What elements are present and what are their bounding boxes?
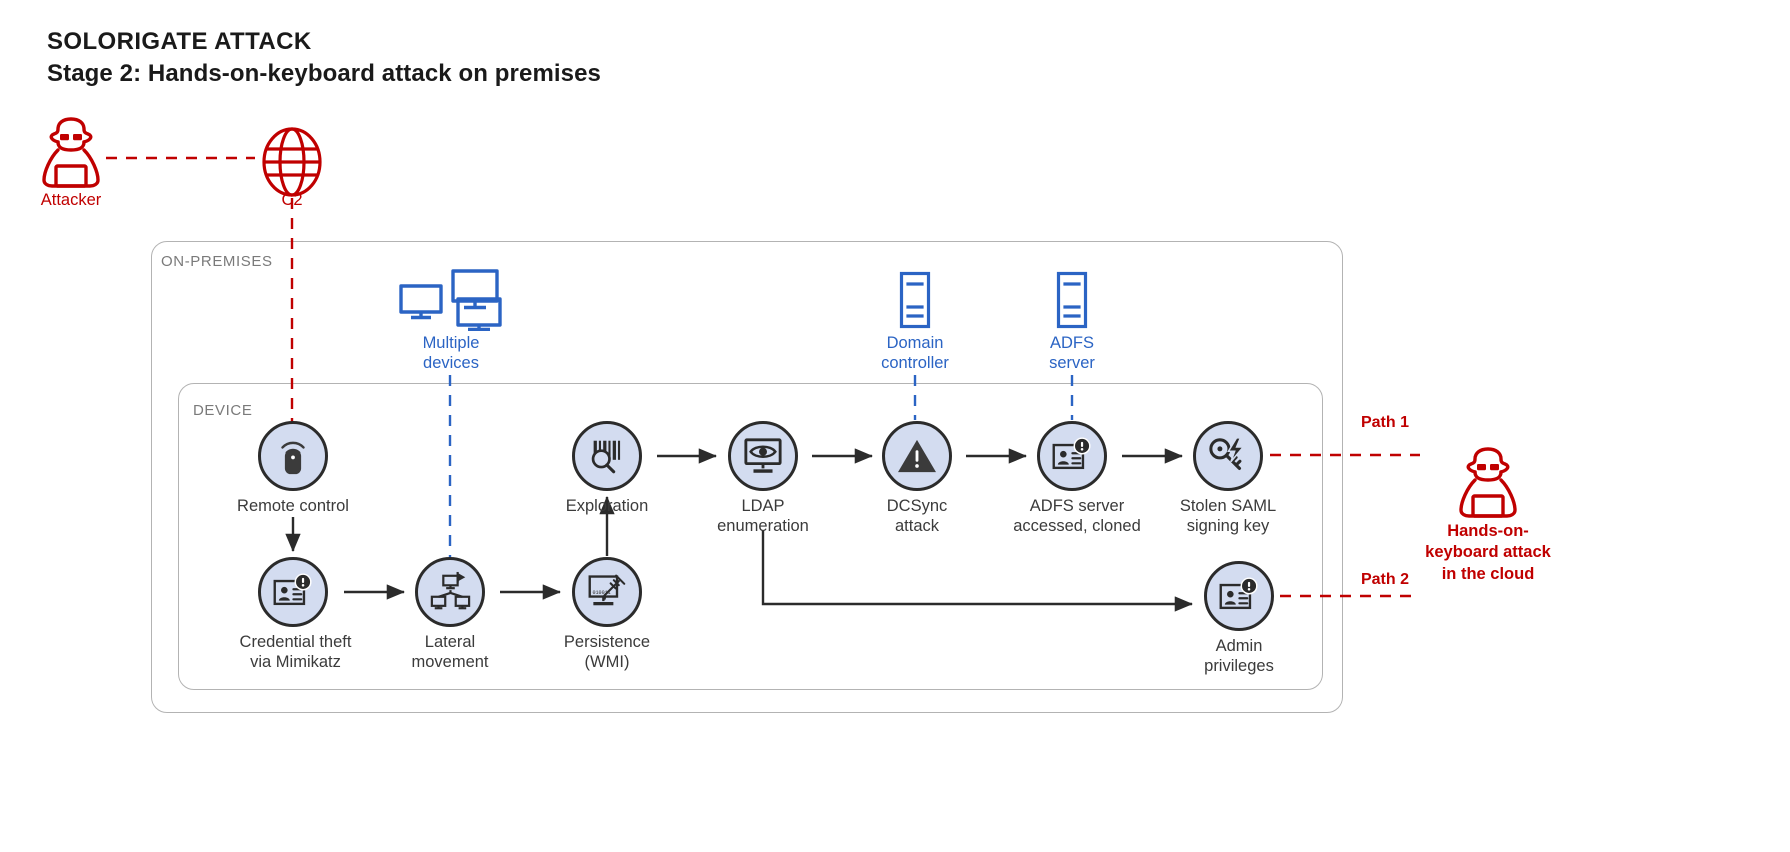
- node-dcsync-attack-label: DCSync attack: [852, 496, 982, 536]
- title-line-2: Stage 2: Hands-on-keyboard attack on pre…: [47, 59, 601, 88]
- wireless-mouse-icon: [272, 435, 314, 477]
- node-adfs-accessed[interactable]: [1037, 421, 1107, 491]
- cloud-attacker-label: Hands-on- keyboard attack in the cloud: [1408, 521, 1568, 585]
- id-card-alert-icon: [1218, 577, 1260, 615]
- attacker-hacker-icon: [38, 116, 104, 188]
- monitor-syringe-icon: 010011: [586, 572, 628, 612]
- key-lightning-icon: [1207, 436, 1249, 476]
- node-exploration-label: Exploration: [537, 496, 677, 516]
- zone-device-label: DEVICE: [193, 402, 252, 419]
- node-lateral-movement-label: Lateral movement: [385, 632, 515, 672]
- server-icon: [899, 271, 931, 329]
- multiple-devices-label: Multiple devices: [386, 333, 516, 373]
- node-persistence-label: Persistence (WMI): [542, 632, 672, 672]
- magnifier-barcode-icon: [586, 435, 628, 477]
- adfs-server-label: ADFS server: [1007, 333, 1137, 373]
- node-credential-theft[interactable]: [258, 557, 328, 627]
- node-saml-key[interactable]: [1193, 421, 1263, 491]
- domain-controller-label: Domain controller: [850, 333, 980, 373]
- attacker-hacker-icon: [1455, 446, 1521, 518]
- zone-onpremises-label: ON-PREMISES: [161, 253, 273, 270]
- multiple-monitors-icon: [398, 269, 504, 331]
- node-admin-privileges[interactable]: [1204, 561, 1274, 631]
- globe-icon: [260, 126, 324, 198]
- node-saml-key-label: Stolen SAML signing key: [1153, 496, 1303, 536]
- id-card-alert-icon: [1051, 437, 1093, 475]
- node-remote-control-label: Remote control: [213, 496, 373, 516]
- c2-label: C2: [242, 190, 342, 210]
- network-spread-icon: [429, 571, 471, 613]
- node-adfs-accessed-label: ADFS server accessed, cloned: [992, 496, 1162, 536]
- title-line-1: SOLORIGATE ATTACK: [47, 27, 601, 56]
- node-ldap-enumeration-label: LDAP enumeration: [698, 496, 828, 536]
- node-lateral-movement[interactable]: [415, 557, 485, 627]
- path-1-label: Path 1: [1330, 413, 1440, 433]
- id-card-alert-icon: [272, 573, 314, 611]
- node-ldap-enumeration[interactable]: [728, 421, 798, 491]
- diagram-canvas: SOLORIGATE ATTACK Stage 2: Hands-on-keyb…: [0, 0, 1790, 852]
- monitor-eye-icon: [742, 436, 784, 476]
- warning-triangle-icon: [896, 437, 938, 475]
- node-dcsync-attack[interactable]: [882, 421, 952, 491]
- server-icon: [1056, 271, 1088, 329]
- attacker-label: Attacker: [21, 190, 121, 210]
- node-remote-control[interactable]: [258, 421, 328, 491]
- node-persistence[interactable]: 010011: [572, 557, 642, 627]
- node-credential-theft-label: Credential theft via Mimikatz: [213, 632, 378, 672]
- node-admin-privileges-label: Admin privileges: [1174, 636, 1304, 676]
- node-exploration[interactable]: [572, 421, 642, 491]
- page-title: SOLORIGATE ATTACK Stage 2: Hands-on-keyb…: [47, 27, 601, 89]
